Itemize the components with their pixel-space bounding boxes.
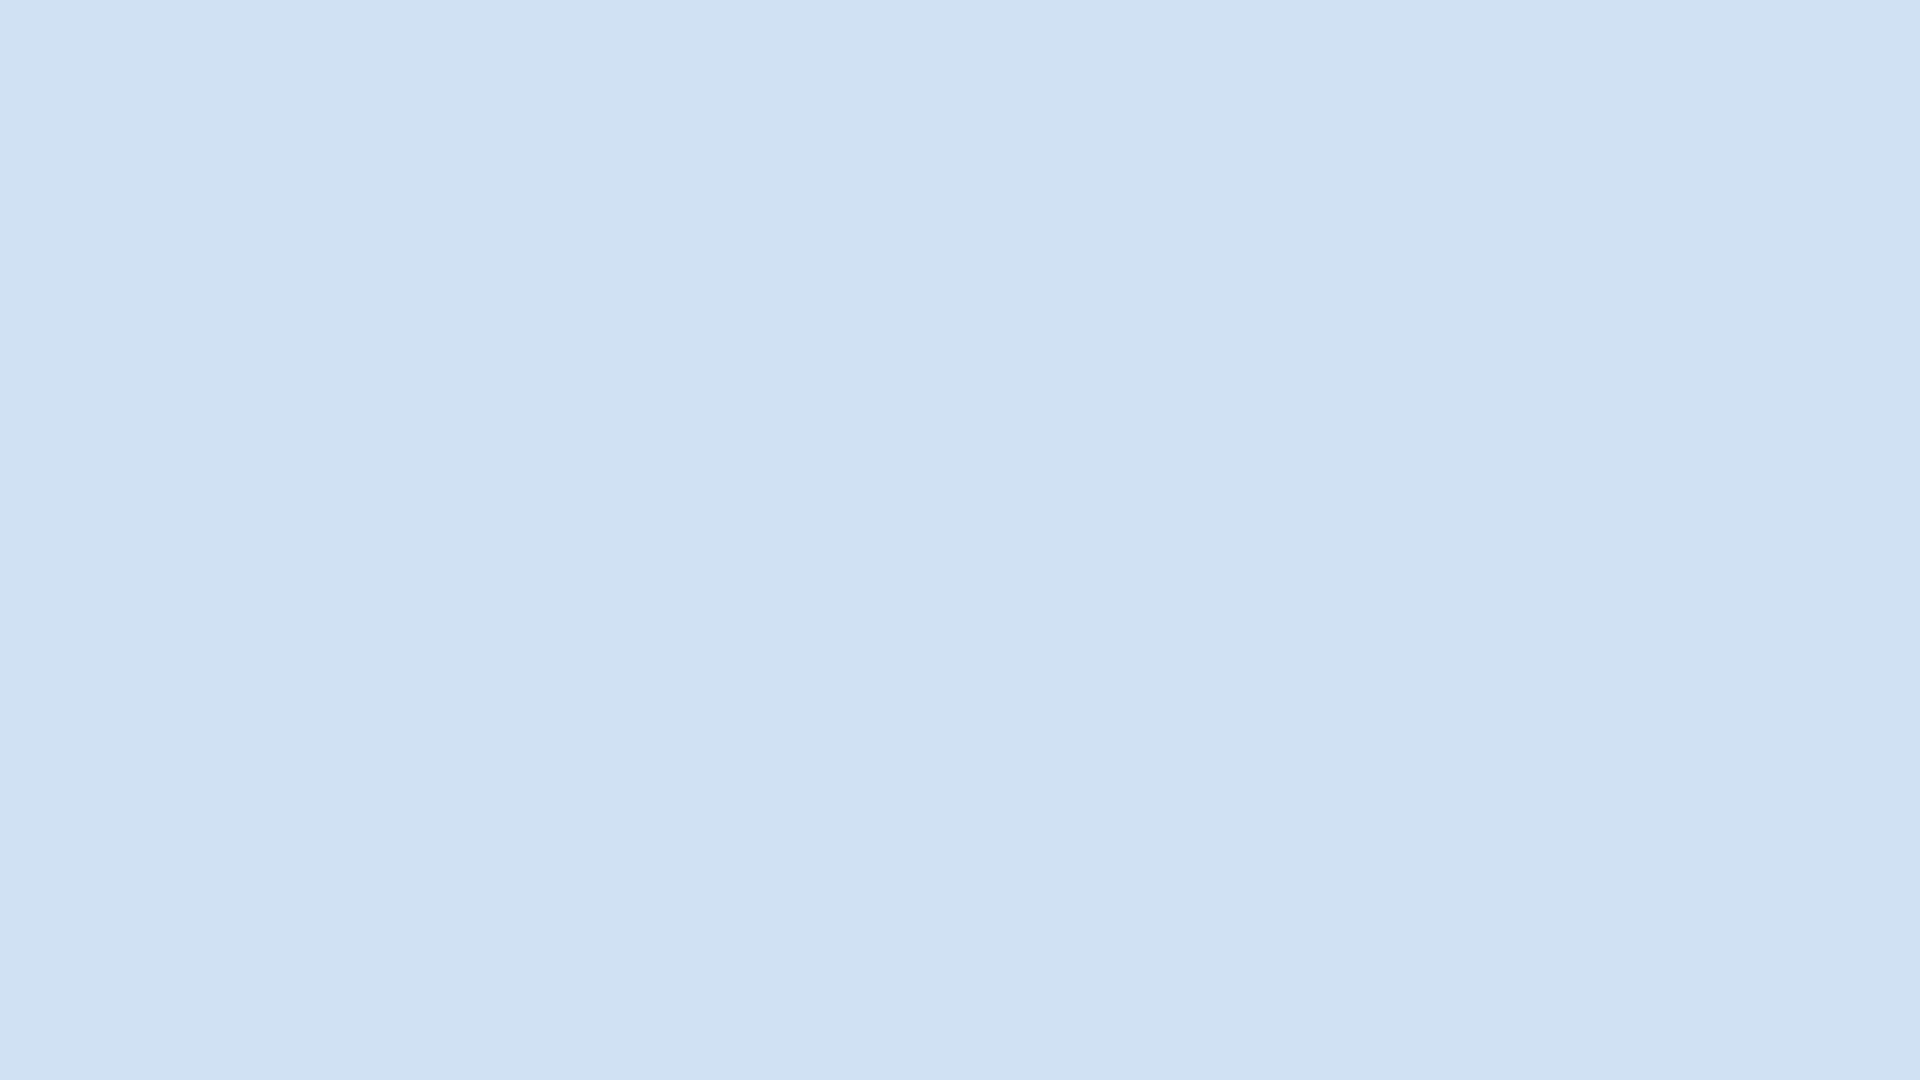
bottom-detail-row [0, 470, 1920, 730]
top-text-row [0, 228, 1920, 338]
process-chevron-band [88, 366, 1868, 463]
